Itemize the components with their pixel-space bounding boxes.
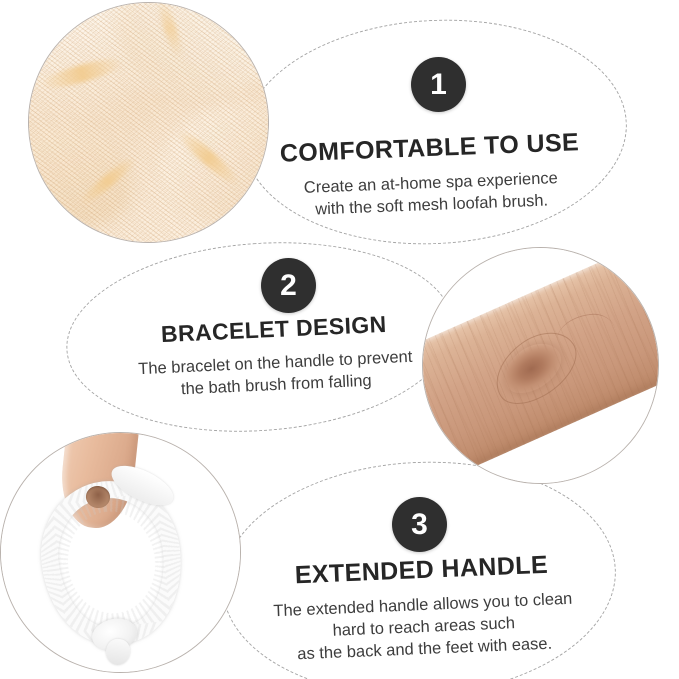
wood-photo-inner <box>423 248 658 483</box>
feature-headline-1: COMFORTABLE TO USE <box>257 127 603 169</box>
step-badge-2: 2 <box>261 258 316 313</box>
feature-headline-3: EXTENDED HANDLE <box>236 548 607 592</box>
bracelet-rope-loop-photo <box>0 432 241 673</box>
wooden-handle-closeup-photo <box>422 247 659 484</box>
loofah-mesh-closeup-photo <box>28 2 269 243</box>
feature-body-1: Create an at-home spa experience with th… <box>258 165 604 222</box>
step-badge-1: 1 <box>411 57 466 112</box>
bracelet-photo-inner <box>1 433 240 672</box>
feature-block-2: BRACELET DESIGN The bracelet on the hand… <box>108 309 441 404</box>
loofah-photo-inner <box>29 3 268 242</box>
feature-body-3: The extended handle allows you to clean … <box>238 586 610 667</box>
feature-body-2: The bracelet on the handle to prevent th… <box>110 345 442 404</box>
infographic-canvas: 1 2 3 COMFORTABLE TO USE Create an at-ho… <box>0 0 679 679</box>
feature-block-1: COMFORTABLE TO USE Create an at-home spa… <box>257 127 605 222</box>
loofah-mesh-weave-secondary <box>29 3 268 242</box>
feature-block-3: EXTENDED HANDLE The extended handle allo… <box>236 548 610 667</box>
feature-headline-2: BRACELET DESIGN <box>108 309 439 351</box>
step-badge-3: 3 <box>392 497 447 552</box>
